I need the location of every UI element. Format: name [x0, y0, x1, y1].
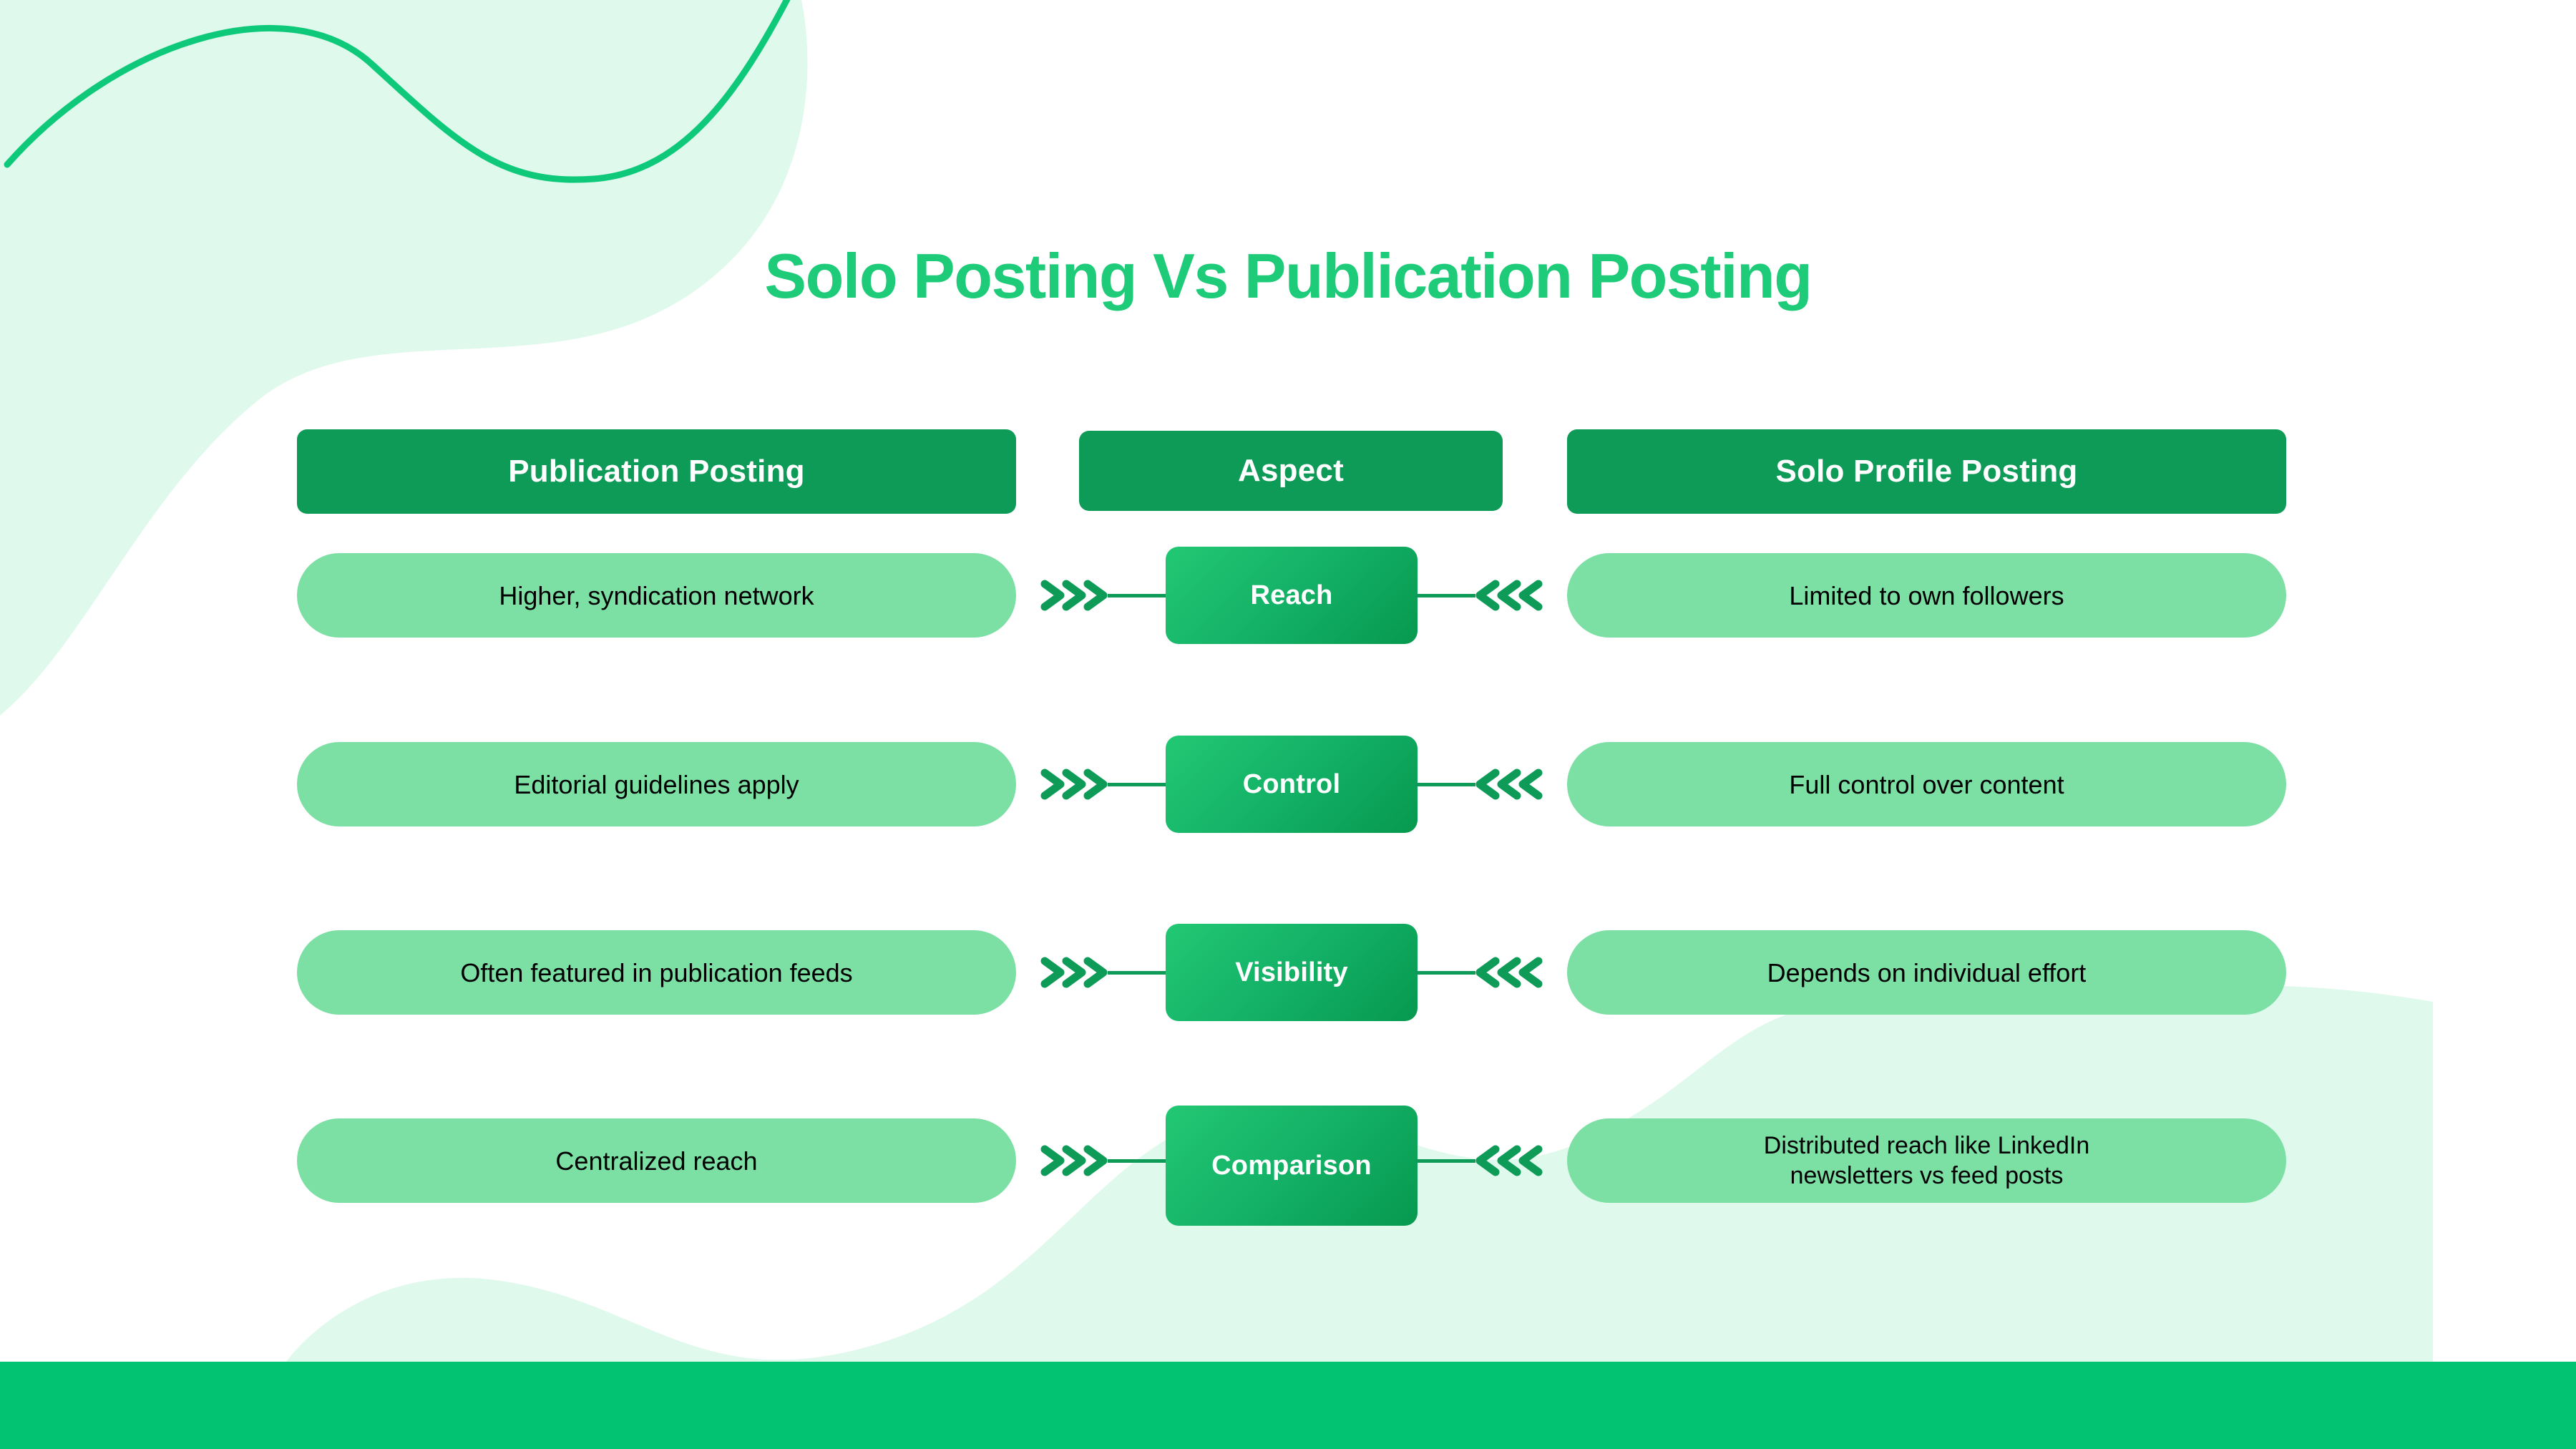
- connector-line: [1415, 1159, 1475, 1163]
- connector-right: [1415, 763, 1544, 806]
- chevrons-left-icon: [1475, 764, 1544, 804]
- chevrons-right-icon: [1039, 1141, 1108, 1181]
- connector-line: [1415, 971, 1475, 975]
- chevrons-right-icon: [1039, 952, 1108, 992]
- left-value-pill: Editorial guidelines apply: [297, 742, 1016, 826]
- left-value-pill: Higher, syndication network: [297, 553, 1016, 638]
- chevrons-left-icon: [1475, 1141, 1544, 1181]
- right-value-pill: Full control over content: [1567, 742, 2286, 826]
- aspect-pill: Control: [1166, 736, 1418, 833]
- connector-right: [1415, 1139, 1544, 1182]
- chevrons-right-icon: [1039, 764, 1108, 804]
- background-decoration: [0, 0, 2576, 1449]
- right-value-pill: Limited to own followers: [1567, 553, 2286, 638]
- connector-line: [1108, 783, 1168, 786]
- connector-line: [1415, 783, 1475, 786]
- column-header-publication-posting: Publication Posting: [297, 429, 1016, 514]
- column-header-solo-profile-posting: Solo Profile Posting: [1567, 429, 2286, 514]
- chevrons-right-icon: [1039, 575, 1108, 615]
- left-value-pill: Often featured in publication feeds: [297, 930, 1016, 1015]
- right-value-pill: Distributed reach like LinkedInnewslette…: [1567, 1118, 2286, 1203]
- chevrons-left-icon: [1475, 575, 1544, 615]
- footer-bar: [0, 1362, 2576, 1449]
- connector-line: [1415, 594, 1475, 597]
- connector-line: [1108, 971, 1168, 975]
- right-value-text: Distributed reach like LinkedInnewslette…: [1764, 1131, 2089, 1191]
- left-value-pill: Centralized reach: [297, 1118, 1016, 1203]
- connector-left: [1039, 951, 1168, 994]
- aspect-pill: Comparison: [1166, 1106, 1418, 1226]
- connector-line: [1108, 1159, 1168, 1163]
- chevrons-left-icon: [1475, 952, 1544, 992]
- connector-right: [1415, 574, 1544, 617]
- right-value-pill: Depends on individual effort: [1567, 930, 2286, 1015]
- connector-left: [1039, 763, 1168, 806]
- aspect-pill: Visibility: [1166, 924, 1418, 1021]
- connector-left: [1039, 1139, 1168, 1182]
- connector-right: [1415, 951, 1544, 994]
- connector-line: [1108, 594, 1168, 597]
- infographic-canvas: Solo Posting Vs Publication Posting Publ…: [0, 0, 2576, 1449]
- page-title: Solo Posting Vs Publication Posting: [0, 242, 2576, 311]
- connector-left: [1039, 574, 1168, 617]
- curve-line-top-left: [7, 0, 801, 180]
- aspect-pill: Reach: [1166, 547, 1418, 644]
- column-header-aspect: Aspect: [1079, 431, 1503, 511]
